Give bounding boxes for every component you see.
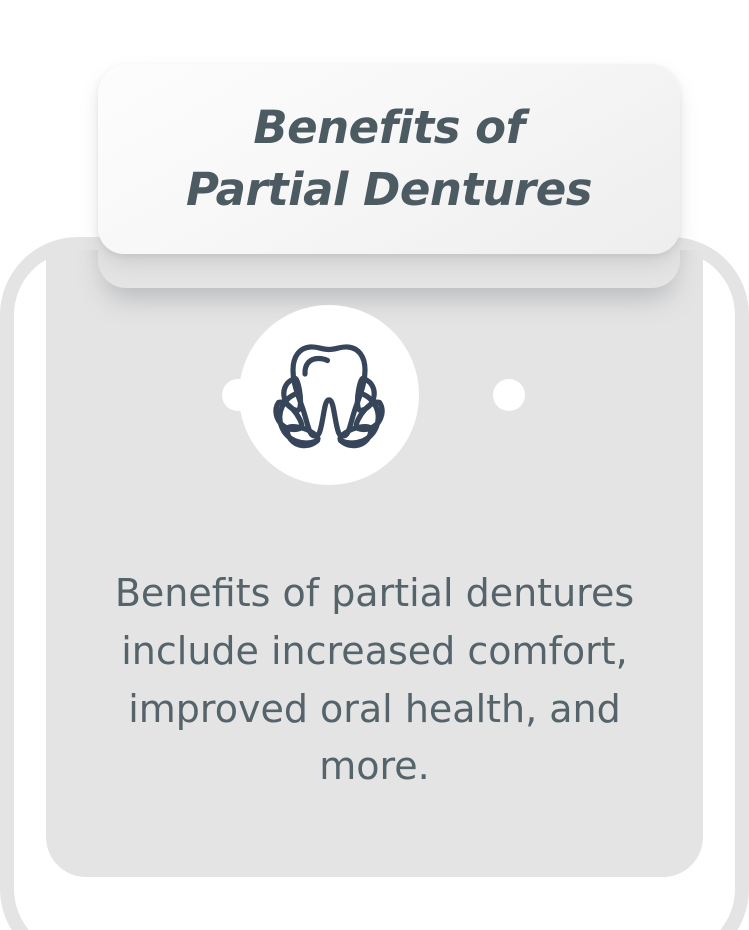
dental-benefits-card-screen: Benefits of Partial Dentures [0,0,749,930]
page-title-line-2: Partial Dentures [186,159,592,221]
icon-row [46,296,703,496]
tooth-laurel-icon [265,336,393,454]
page-title-line-1: Benefits of [186,97,592,159]
card-description: Benefits of partial dentures include inc… [86,565,663,796]
decorative-dot-right [493,379,525,411]
page-title: Benefits of Partial Dentures [186,97,592,221]
card-header: Benefits of Partial Dentures [98,64,680,254]
icon-badge [239,305,419,485]
